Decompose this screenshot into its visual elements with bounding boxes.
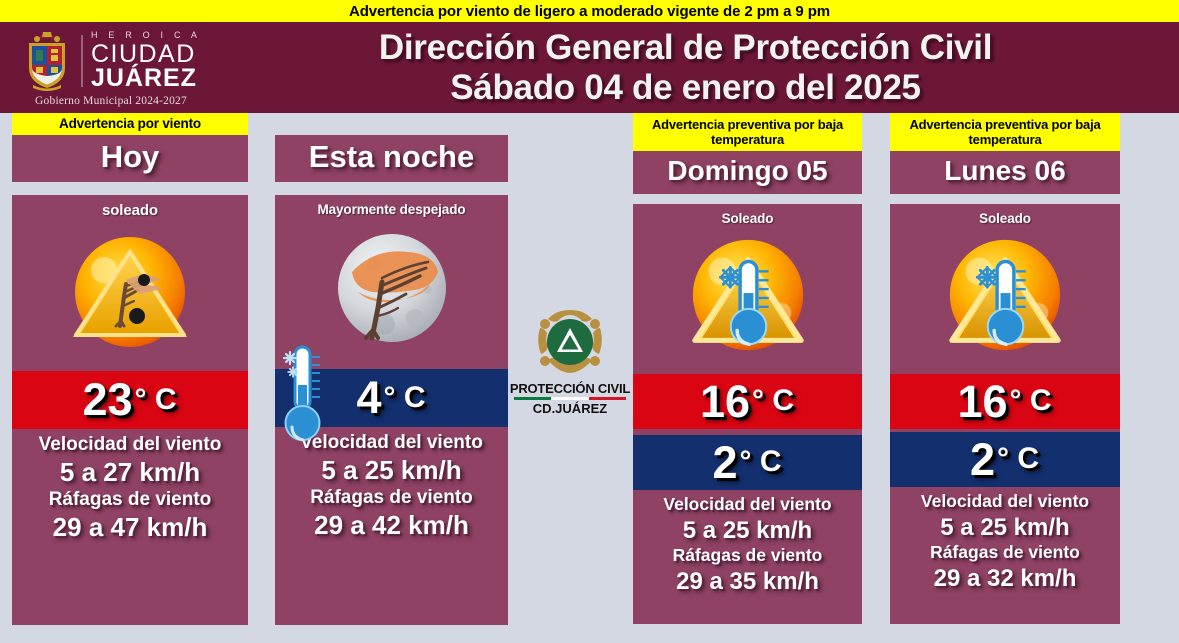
forecast-card-hoy[interactable]: Advertencia por viento Hoy soleado [12,113,248,625]
card-condition-text: Soleado [890,204,1120,226]
card-high-temp-unit: ° C [135,385,177,415]
forecast-cards-region: Advertencia por viento Hoy soleado [0,113,1179,643]
card-condition-text: Mayormente despejado [275,195,508,217]
card-weather-icon-wrap [890,226,1120,374]
card-low-temp-bar: 4° C [275,369,508,427]
moon-wind-tree-icon [322,220,462,365]
wind-gust-label: Ráfagas de viento [275,486,508,510]
brand-heroica: H E R O I C A [91,31,201,40]
card-low-temp-unit: ° C [740,447,782,477]
wind-speed-value: 5 a 25 km/h [890,513,1120,542]
card-wind-block: Velocidad del viento 5 a 25 km/h Ráfagas… [275,427,508,625]
card-day-title: Hoy [12,135,248,182]
page-header: H E R O I C A CIUDAD JUÁREZ Gobierno Mun… [0,22,1179,113]
proteccion-civil-logo: PROTECCIÓN CIVIL CD.JUÁREZ [508,306,632,426]
card-high-temp-bar: 16° C [633,374,862,429]
header-title-block: Dirección General de Protección Civil Sá… [222,22,1179,113]
card-low-temp-value: 2 [712,440,737,485]
proteccion-civil-name: PROTECCIÓN CIVIL [510,381,630,396]
page-date: Sábado 04 de enero del 2025 [450,68,920,107]
wind-speed-label: Velocidad del viento [12,433,248,457]
card-high-temp-value: 16 [957,379,1007,424]
sun-cold-thermometer-warning-icon [679,228,817,371]
ciudad-juarez-coat-of-arms-icon [21,30,73,92]
card-low-temp-unit: ° C [997,444,1039,474]
proteccion-civil-emblem-icon [532,306,608,380]
card-low-temp-bar: 2° C [890,432,1120,487]
card-high-temp-unit: ° C [752,386,794,416]
card-warning-badge: Advertencia por viento [12,113,248,135]
card-high-temp-unit: ° C [1010,386,1052,416]
mexico-flag-stripe-icon [514,397,626,400]
wind-gust-label: Ráfagas de viento [12,488,248,512]
wind-gust-value: 29 a 42 km/h [275,510,508,542]
proteccion-civil-city: CD.JUÁREZ [533,401,607,416]
wind-speed-value: 5 a 25 km/h [633,516,862,545]
wind-gust-value: 29 a 32 km/h [890,564,1120,593]
card-low-temp-value: 2 [970,437,995,482]
card-low-temp-bar: 2° C [633,435,862,490]
page-title: Dirección General de Protección Civil [379,28,992,67]
card-warning-badge: Advertencia preventiva por baja temperat… [890,113,1120,151]
card-low-temp-unit: ° C [384,383,426,413]
card-weather-icon-wrap [12,219,248,371]
top-wind-alert-banner: Advertencia por viento de ligero a moder… [0,0,1179,22]
card-high-temp-bar: 16° C [890,374,1120,429]
forecast-card-esta-noche[interactable]: Esta noche Mayormente despejado [275,113,508,625]
forecast-card-domingo-05[interactable]: Advertencia preventiva por baja temperat… [633,113,862,624]
card-low-temp-value: 4 [356,375,381,420]
card-condition-text: Soleado [633,204,862,226]
top-wind-alert-text: Advertencia por viento de ligero a moder… [349,3,830,20]
wind-gust-label: Ráfagas de viento [890,542,1120,564]
branding-divider [81,35,83,87]
card-high-temp-bar: 23° C [12,371,248,429]
card-day-title: Domingo 05 [633,151,862,194]
card-day-title: Esta noche [275,135,508,182]
wind-speed-label: Velocidad del viento [633,494,862,516]
brand-gobierno-municipal: Gobierno Municipal 2024-2027 [35,95,187,107]
wind-speed-value: 5 a 25 km/h [275,455,508,487]
cold-thermometer-icon [279,341,331,453]
wind-gust-label: Ráfagas de viento [633,545,862,567]
brand-juarez: JUÁREZ [91,66,201,92]
card-weather-icon-wrap [633,226,862,374]
card-condition-text: soleado [12,195,248,219]
forecast-card-lunes-06[interactable]: Advertencia preventiva por baja temperat… [890,113,1120,624]
card-warning-badge: Advertencia preventiva por baja temperat… [633,113,862,151]
wind-gust-value: 29 a 47 km/h [12,512,248,544]
card-high-temp-value: 23 [82,377,132,422]
card-day-title: Lunes 06 [890,151,1120,194]
wind-speed-label: Velocidad del viento [890,491,1120,513]
card-high-temp-value: 16 [700,379,750,424]
card-wind-block: Velocidad del viento 5 a 27 km/h Ráfagas… [12,429,248,625]
brand-ciudad: CIUDAD [91,42,201,67]
municipal-branding: H E R O I C A CIUDAD JUÁREZ Gobierno Mun… [0,22,222,113]
sun-cold-thermometer-warning-icon [936,228,1074,371]
sun-wind-warning-icon [60,222,200,367]
wind-speed-value: 5 a 27 km/h [12,457,248,489]
card-wind-block: Velocidad del viento 5 a 25 km/h Ráfagas… [890,487,1120,624]
wind-gust-value: 29 a 35 km/h [633,567,862,596]
card-wind-block: Velocidad del viento 5 a 25 km/h Ráfagas… [633,490,862,624]
